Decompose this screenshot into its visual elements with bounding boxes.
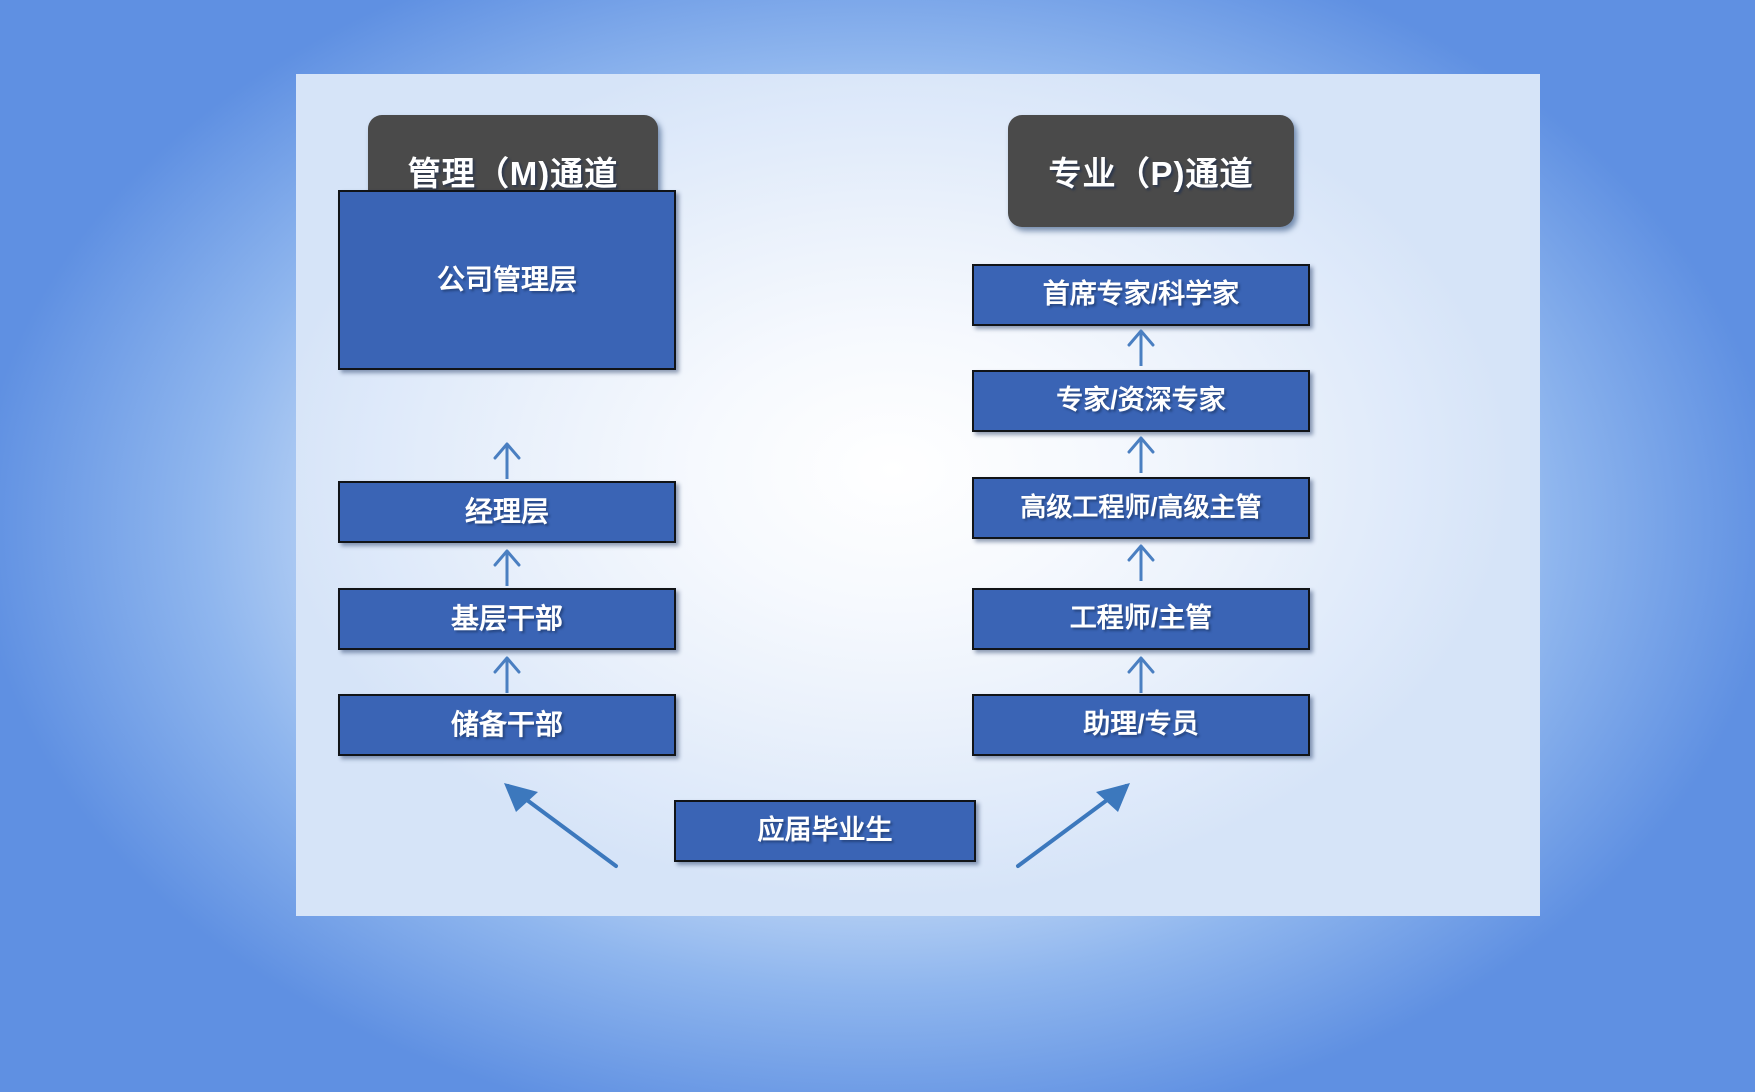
up-arrow-icon xyxy=(1124,432,1158,474)
level-label: 专家/资深专家 xyxy=(1056,385,1226,416)
level-label: 公司管理层 xyxy=(437,264,577,296)
level-label: 基层干部 xyxy=(451,603,563,635)
level-label: 工程师/主管 xyxy=(1070,603,1213,634)
slide-page: 管理（M)通道 专业（P)通道 公司管理层 经理层 基层干部 xyxy=(0,0,1755,1092)
level-label: 首席专家/科学家 xyxy=(1043,279,1240,310)
slide-canvas: 管理（M)通道 专业（P)通道 公司管理层 经理层 基层干部 xyxy=(296,74,1540,916)
diagonal-arrow-up-left-icon xyxy=(494,774,624,874)
level-label: 储备干部 xyxy=(451,709,563,741)
entry-box-new-graduate[interactable]: 应届毕业生 xyxy=(674,800,976,862)
level-box-management-3[interactable]: 储备干部 xyxy=(338,694,676,756)
level-label: 高级工程师/高级主管 xyxy=(1020,493,1261,523)
level-box-management-1[interactable]: 经理层 xyxy=(338,481,676,543)
level-box-professional-0[interactable]: 首席专家/科学家 xyxy=(972,264,1310,326)
level-label: 经理层 xyxy=(465,496,549,528)
level-box-professional-4[interactable]: 助理/专员 xyxy=(972,694,1310,756)
up-arrow-icon xyxy=(490,545,524,587)
entry-box-label: 应届毕业生 xyxy=(758,815,893,846)
channel-header-professional: 专业（P)通道 xyxy=(1008,115,1294,227)
level-label: 助理/专员 xyxy=(1083,709,1199,740)
up-arrow-icon xyxy=(1124,540,1158,582)
diagonal-arrow-up-right-icon xyxy=(1010,774,1140,874)
up-arrow-icon xyxy=(490,652,524,694)
channel-header-professional-label: 专业（P)通道 xyxy=(1049,147,1254,195)
up-arrow-icon xyxy=(1124,325,1158,367)
up-arrow-icon xyxy=(490,438,524,480)
level-box-management-0[interactable]: 公司管理层 xyxy=(338,190,676,370)
level-box-management-2[interactable]: 基层干部 xyxy=(338,588,676,650)
channel-header-management-label: 管理（M)通道 xyxy=(408,147,618,195)
level-box-professional-2[interactable]: 高级工程师/高级主管 xyxy=(972,477,1310,539)
up-arrow-icon xyxy=(1124,652,1158,694)
level-box-professional-1[interactable]: 专家/资深专家 xyxy=(972,370,1310,432)
level-box-professional-3[interactable]: 工程师/主管 xyxy=(972,588,1310,650)
